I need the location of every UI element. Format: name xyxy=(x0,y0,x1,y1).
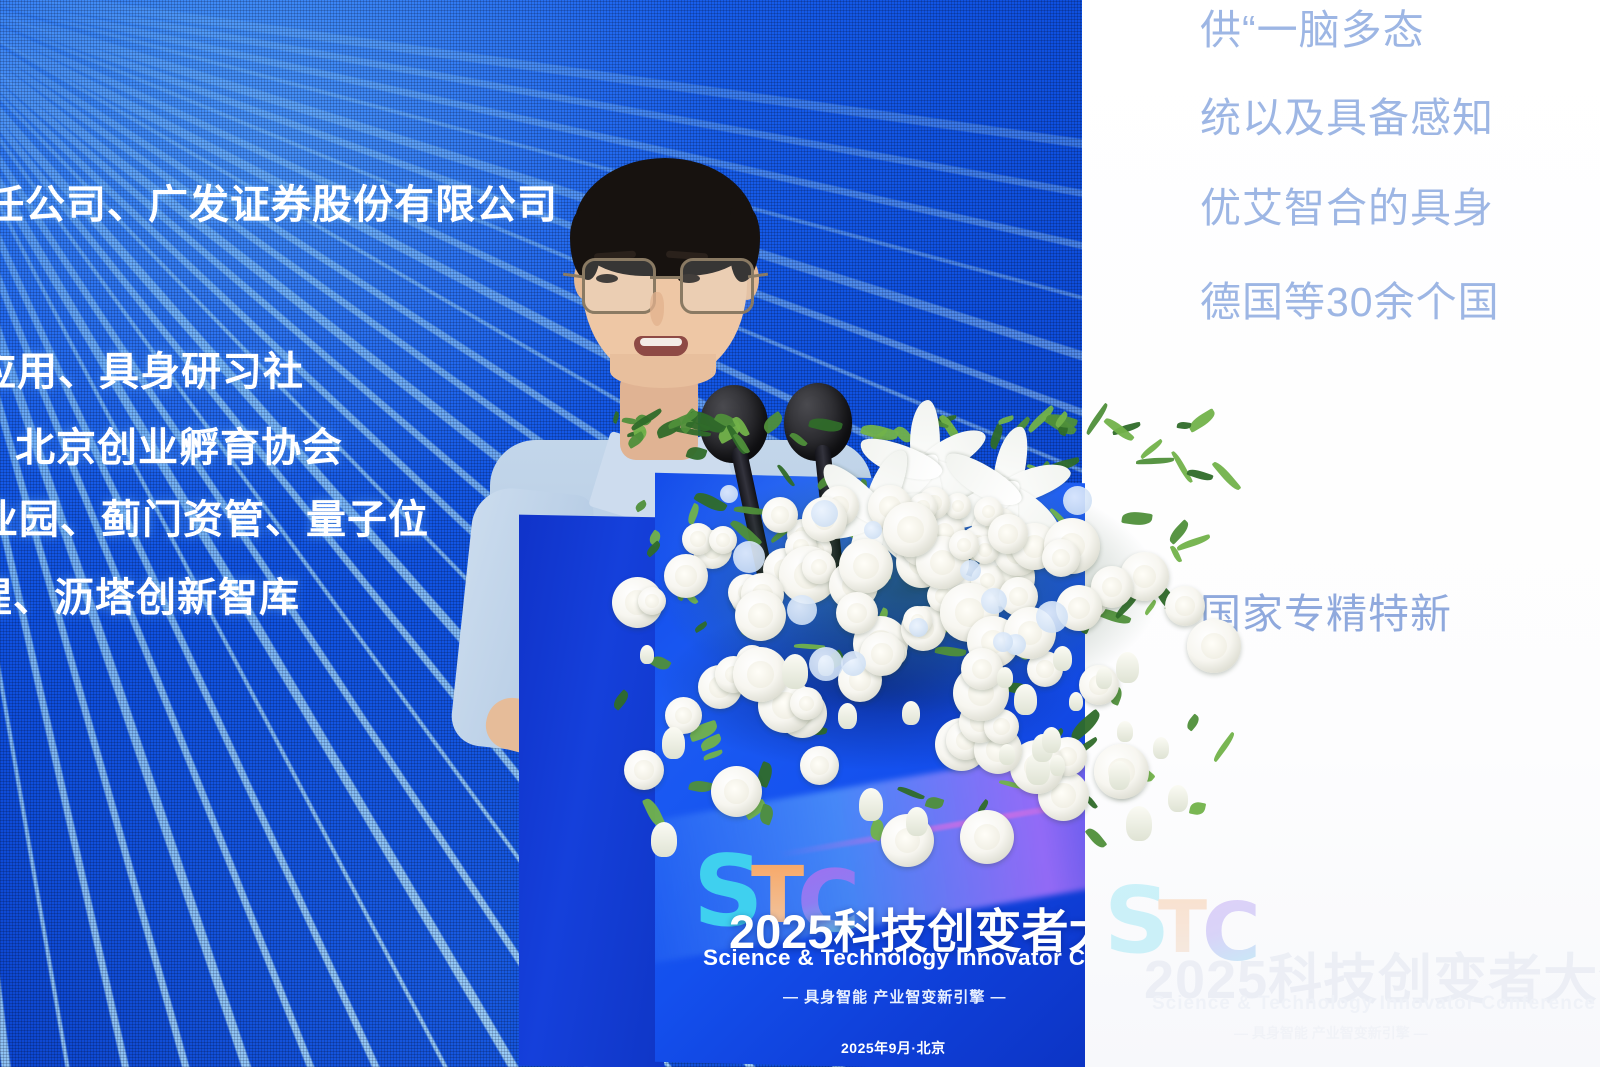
panel-text-line-3: 优艾智合的具身 xyxy=(1200,174,1494,234)
conference-photo-stage: 任公司、广发证券股份有限公司 应用、具身研习社 、北京创业孵育协会 业园、蓟门资… xyxy=(0,0,1600,1067)
panel-text-line-4: 德国等30余个国 xyxy=(1200,268,1500,328)
led-text-line-3: 、北京创业孵育协会 xyxy=(0,428,343,468)
panel-text-line-1: 供“一脑多态 xyxy=(1200,0,1425,56)
eyeglass-lens-left xyxy=(582,258,656,314)
panel-text-line-2: 统以及具备感知 xyxy=(1200,84,1494,144)
speaker-nose xyxy=(650,292,664,326)
podium-subtitle: Science & Technology Innovator Conferenc… xyxy=(703,945,1085,971)
eyeglass-lens-right xyxy=(680,258,754,314)
speaker-mouth xyxy=(634,336,688,356)
watermark-subtitle: Science & Technology Innovator Conferenc… xyxy=(1152,993,1596,1015)
podium-date-location: 2025年9月·北京 xyxy=(841,1038,946,1058)
led-text-line-5: 猩、沥塔创新智库 xyxy=(0,578,300,618)
stic-watermark: S T C 2025科技创变者大会 Science & Technology I… xyxy=(1104,875,1574,1035)
podium-tagline: — 具身智能 产业智变新引擎 — xyxy=(783,986,1007,1007)
eyeglass-temple-left xyxy=(563,273,583,279)
speaker-chin xyxy=(610,354,716,388)
eyeglasses xyxy=(580,258,752,310)
led-text-line-4: 业园、蓟门资管、量子位 xyxy=(0,500,429,540)
eyeglass-bridge xyxy=(650,276,682,279)
speaker-teeth xyxy=(640,338,682,346)
led-text-line-2: 应用、具身研习社 xyxy=(0,352,304,392)
watermark-tagline: — 具身智能 产业智变新引擎 — xyxy=(1234,1023,1428,1043)
flower-arrangement xyxy=(600,395,1240,855)
